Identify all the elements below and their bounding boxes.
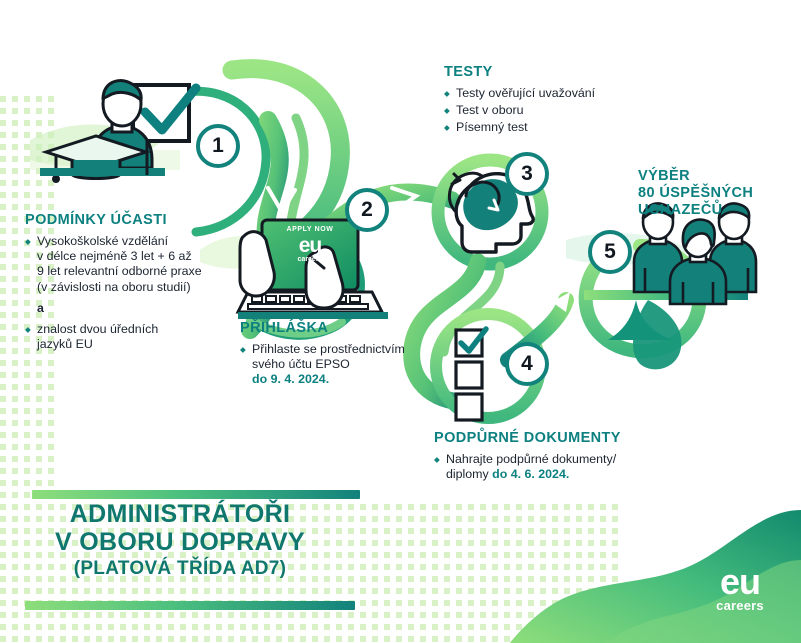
laptop-careers-logo: careers (264, 256, 356, 264)
title-bar-top (32, 490, 360, 499)
application-bullets: Přihlaste se prostřednictvím svého účtu … (240, 342, 430, 388)
title-line-1: ADMINISTRÁTOŘI (0, 500, 360, 528)
documents-heading: PODPŮRNÉ DOKUMENTY (434, 430, 664, 446)
step-number-5: 5 (604, 240, 616, 264)
checklist-icon (456, 329, 486, 420)
eu-careers-logo: eu careers (697, 565, 783, 627)
section-tests: TESTY Testy ověřující uvažování Test v o… (444, 64, 654, 136)
step-badge-1: 1 (196, 124, 240, 168)
step-number-4: 4 (521, 352, 533, 376)
application-bullet-1: Přihlaste se prostřednictvím svého účtu … (240, 342, 430, 388)
documents-bullets: Nahrajte podpůrné dokumenty/ diplomy do … (434, 452, 664, 482)
title-line-2: V OBORU DOPRAVY (0, 528, 360, 556)
apply-now-label: APPLY NOW (264, 226, 356, 233)
documents-bullet-1: Nahrajte podpůrné dokumenty/ diplomy do … (434, 452, 664, 482)
section-selection: VÝBĚR 80 ÚSPĚŠNÝCH UCHAZEČŮ (638, 168, 798, 219)
page-title: ADMINISTRÁTOŘI V OBORU DOPRAVY (PLATOVÁ … (0, 500, 360, 582)
step-number-2: 2 (361, 198, 373, 222)
documents-deadline: do 4. 6. 2024. (492, 467, 569, 481)
application-deadline: do 9. 4. 2024. (252, 372, 329, 386)
step-badge-3: 3 (505, 152, 549, 196)
section-documents: PODPŮRNÉ DOKUMENTY Nahrajte podpůrné dok… (434, 430, 664, 482)
step-badge-2: 2 (345, 188, 389, 232)
laptop-eu-logo: eu (264, 236, 356, 256)
section-conditions: PODMÍNKY ÚČASTI Vysokoškolské vzdělání v… (25, 212, 240, 352)
step-badge-4: 4 (505, 342, 549, 386)
tests-bullet-1: Testy ověřující uvažování (444, 86, 654, 101)
conditions-bullet-2: znalost dvou úředních jazyků EU (25, 322, 240, 352)
conditions-bullets: Vysokoškolské vzdělání v délce nejméně 3… (25, 234, 240, 352)
tests-bullet-3: Písemný test (444, 120, 654, 135)
conditions-bullet-1: Vysokoškolské vzdělání v délce nejméně 3… (25, 234, 240, 295)
selection-heading: VÝBĚR 80 ÚSPĚŠNÝCH UCHAZEČŮ (638, 168, 798, 219)
title-line-3: (PLATOVÁ TŘÍDA AD7) (0, 556, 360, 582)
step-number-3: 3 (521, 162, 533, 186)
conditions-heading: PODMÍNKY ÚČASTI (25, 212, 240, 228)
application-heading: PŘIHLÁŠKA (240, 320, 430, 336)
tests-bullets: Testy ověřující uvažování Test v oboru P… (444, 86, 654, 136)
step-badge-5: 5 (588, 230, 632, 274)
step-number-1: 1 (212, 134, 224, 158)
logo-careers-text: careers (697, 599, 783, 613)
tests-heading: TESTY (444, 64, 654, 80)
laptop-screen-content: APPLY NOW eu careers (264, 226, 356, 264)
conditions-conjunction: a (25, 301, 240, 316)
section-application: PŘIHLÁŠKA Přihlaste se prostřednictvím s… (240, 320, 430, 388)
infographic-canvas: 1 2 3 4 5 APPLY NOW eu careers PODMÍNKY … (0, 0, 801, 643)
logo-eu-text: eu (697, 565, 783, 599)
application-bullet-1-text: Přihlaste se prostřednictvím svého účtu … (252, 342, 405, 371)
title-bar-bottom (25, 601, 355, 610)
tests-bullet-2: Test v oboru (444, 103, 654, 118)
